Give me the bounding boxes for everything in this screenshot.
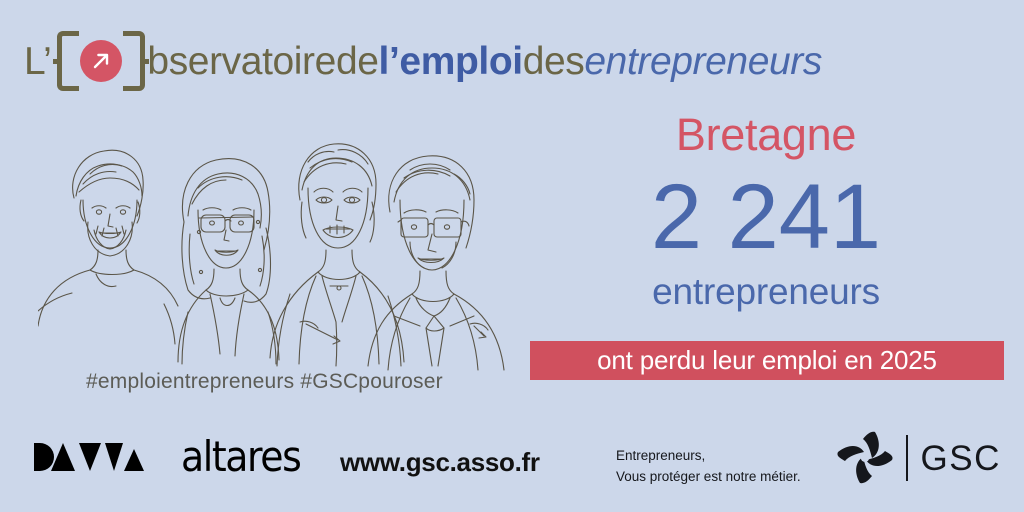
hashtags-text: #emploientrepreneurs #GSCpouroser xyxy=(86,370,443,394)
status-badge-label: ont perdu leur emploi en 2025 xyxy=(597,345,937,376)
altares-logo[interactable]: altares xyxy=(30,437,300,477)
arrow-up-right-icon xyxy=(90,50,112,72)
masthead-des: des xyxy=(523,42,585,81)
entrepreneurs-illustration xyxy=(38,126,518,374)
gsc-logo[interactable]: GSC xyxy=(834,430,1001,486)
masthead-title: L’ bservatoire de l’emploi des entrepren… xyxy=(24,32,822,90)
bracketed-arrow-circle-icon xyxy=(57,33,145,89)
four-entrepreneurs-line-art xyxy=(38,126,518,374)
masthead-prefix: L’ xyxy=(24,42,51,81)
region-name: Bretagne xyxy=(524,112,1008,157)
gsc-pinwheel-icon xyxy=(834,430,896,486)
poster-canvas: L’ bservatoire de l’emploi des entrepren… xyxy=(0,0,1024,512)
gsc-tagline-line-2: Vous protéger est notre métier. xyxy=(616,467,801,488)
left-bracket-icon xyxy=(57,31,79,91)
gsc-tagline-line-1: Entrepreneurs, xyxy=(616,446,801,467)
right-bracket-icon xyxy=(123,31,145,91)
masthead-emploi: l’emploi xyxy=(379,42,523,81)
masthead-de: de xyxy=(336,42,379,81)
masthead-word-observatoire: bservatoire xyxy=(147,42,336,81)
gsc-tagline: Entrepreneurs, Vous protéger est notre m… xyxy=(616,446,801,488)
status-badge: ont perdu leur emploi en 2025 xyxy=(530,341,1004,380)
masthead-entrepreneurs: entrepreneurs xyxy=(584,42,822,81)
entrepreneur-count: 2 241 xyxy=(524,171,1008,263)
count-unit-label: entrepreneurs xyxy=(524,273,1008,310)
altares-data-mark-icon xyxy=(30,437,180,477)
altares-wordmark: altares xyxy=(181,436,300,478)
red-circle-badge xyxy=(80,40,122,82)
stats-panel: Bretagne 2 241 entrepreneurs xyxy=(524,112,1008,310)
gsc-logo-divider xyxy=(906,435,908,481)
gsc-wordmark: GSC xyxy=(921,441,1001,476)
website-url[interactable]: www.gsc.asso.fr xyxy=(340,447,540,478)
